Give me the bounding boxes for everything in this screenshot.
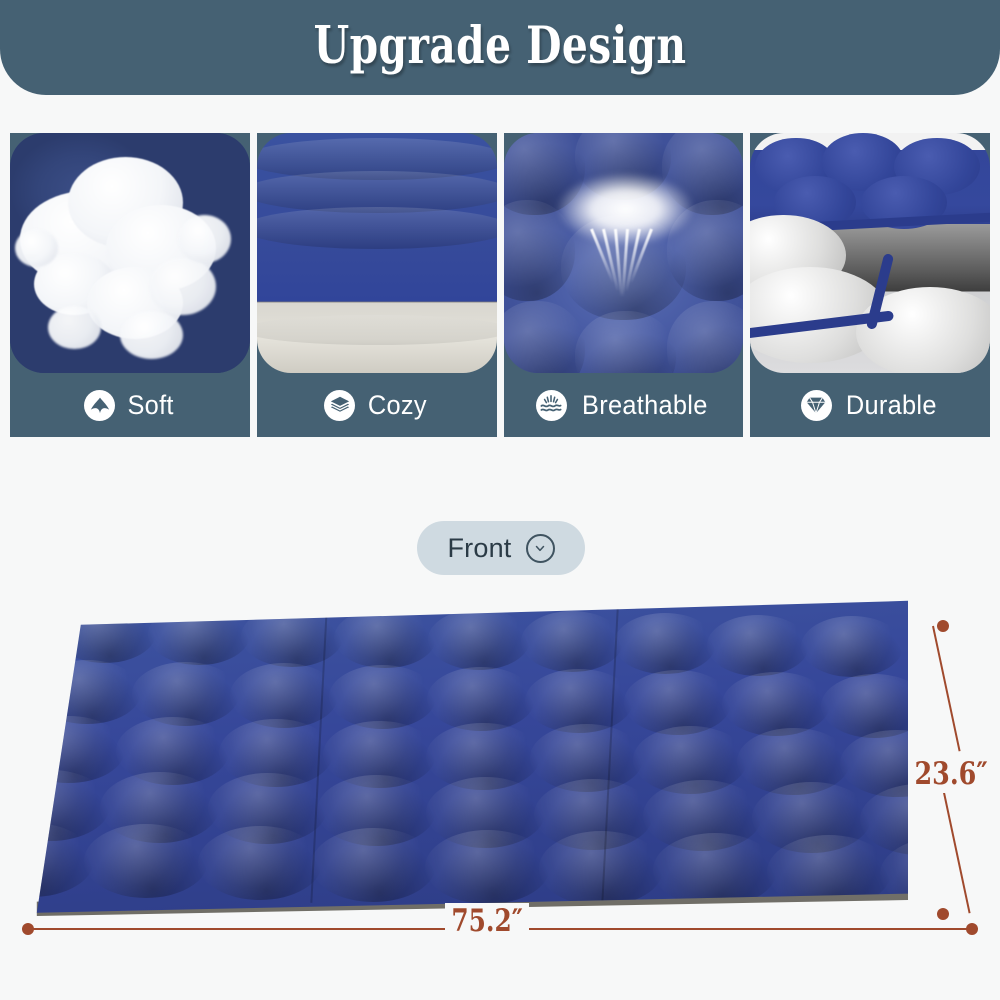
page-title: Upgrade Design (314, 21, 687, 72)
feature-tile-durable[interactable]: Durable (750, 133, 990, 437)
cushion-tuft (208, 773, 327, 844)
cushion-tuft (624, 670, 732, 734)
airflow-waves-circle-icon (536, 390, 567, 421)
cushion-tuft (633, 726, 746, 793)
cushion-tuft (525, 669, 633, 733)
layered-cushion-photo (750, 133, 990, 373)
dimension-endpoint-dot (937, 620, 949, 632)
feature-label-durable: Durable (750, 373, 990, 437)
cushion-tuft (323, 721, 436, 788)
cushion-tuft (425, 830, 550, 904)
feature-tile-cozy[interactable]: Cozy (257, 133, 497, 437)
cushion-tuft (737, 728, 850, 795)
cushion-tuft (329, 665, 437, 729)
cushion-tuft (241, 606, 343, 667)
cushion-tuft (428, 609, 530, 670)
cushion-tuft (653, 833, 778, 907)
cushion-tuft (0, 770, 110, 841)
fiber-fill-photo (10, 133, 250, 373)
cushion-tuft (821, 674, 929, 738)
cushion-tuft (801, 616, 903, 677)
cushion-tuft (427, 667, 535, 731)
height-dimension-label: 23.6″ (912, 755, 990, 793)
cushion-tuft (530, 724, 643, 791)
cushion-tuft (230, 663, 338, 727)
cushion-tuft (219, 719, 332, 786)
diamond-circle-icon (801, 390, 832, 421)
cushion-tuft (426, 723, 539, 790)
cushion-tuft (0, 823, 94, 897)
cushion-tuft (752, 782, 871, 853)
cushion-tuft (707, 615, 809, 676)
product-image-front (28, 596, 908, 916)
cushion-tuft (148, 604, 250, 665)
view-selector-front[interactable]: Front (417, 521, 585, 575)
feature-label-text: Durable (846, 390, 937, 421)
dimension-endpoint-dot (966, 923, 978, 935)
cushion-tuft (100, 772, 219, 843)
feature-label-text: Cozy (368, 390, 427, 421)
cushion-tuft (33, 660, 141, 724)
feature-tile-soft[interactable]: Soft (10, 133, 250, 437)
cushion-tuft (54, 602, 156, 663)
width-dimension-label: 75.2″ (445, 903, 529, 939)
dimension-line-lower (942, 788, 971, 914)
feature-tiles: Soft Cozy (10, 133, 990, 437)
cushion-tuft (132, 662, 240, 726)
cushion-tuft (860, 784, 979, 855)
cushion-tuft (722, 672, 830, 736)
cushion-tuft (426, 777, 545, 848)
layers-circle-icon (324, 390, 355, 421)
vapor-cushion-photo (504, 133, 744, 373)
cushion-tuft (534, 779, 653, 850)
view-selector-label: Front (447, 533, 511, 564)
feature-label-text: Breathable (582, 390, 708, 421)
feature-tile-breathable[interactable]: Breathable (504, 133, 744, 437)
feather-circle-icon (84, 390, 115, 421)
feature-label-breathable: Breathable (504, 373, 744, 437)
cushion-panel-seam (311, 609, 328, 903)
cushion-tuft (643, 780, 762, 851)
cushion-tuft (521, 611, 623, 672)
dimension-line-upper (932, 626, 961, 752)
cushion-panel-seam (601, 609, 618, 903)
cushion-tuft (614, 613, 716, 674)
cushion-tuft (198, 826, 323, 900)
cushion-tuft (311, 828, 436, 902)
cushion-tuft (84, 824, 209, 898)
chevron-down-circle-icon[interactable] (526, 534, 555, 563)
cushion-edge-photo (257, 133, 497, 373)
dimension-endpoint-dot (937, 908, 949, 920)
cushion-tuft (12, 716, 125, 783)
cushion-tuft (539, 831, 664, 905)
cushion-tuft (334, 608, 436, 669)
header-bar: Upgrade Design (0, 0, 1000, 95)
cushion-tuft (116, 717, 229, 784)
tufted-cushion (28, 596, 908, 916)
feature-label-text: Soft (128, 390, 174, 421)
feature-label-soft: Soft (10, 373, 250, 437)
cushion-top-surface (28, 596, 908, 916)
feature-label-cozy: Cozy (257, 373, 497, 437)
cushion-tuft (317, 775, 436, 846)
